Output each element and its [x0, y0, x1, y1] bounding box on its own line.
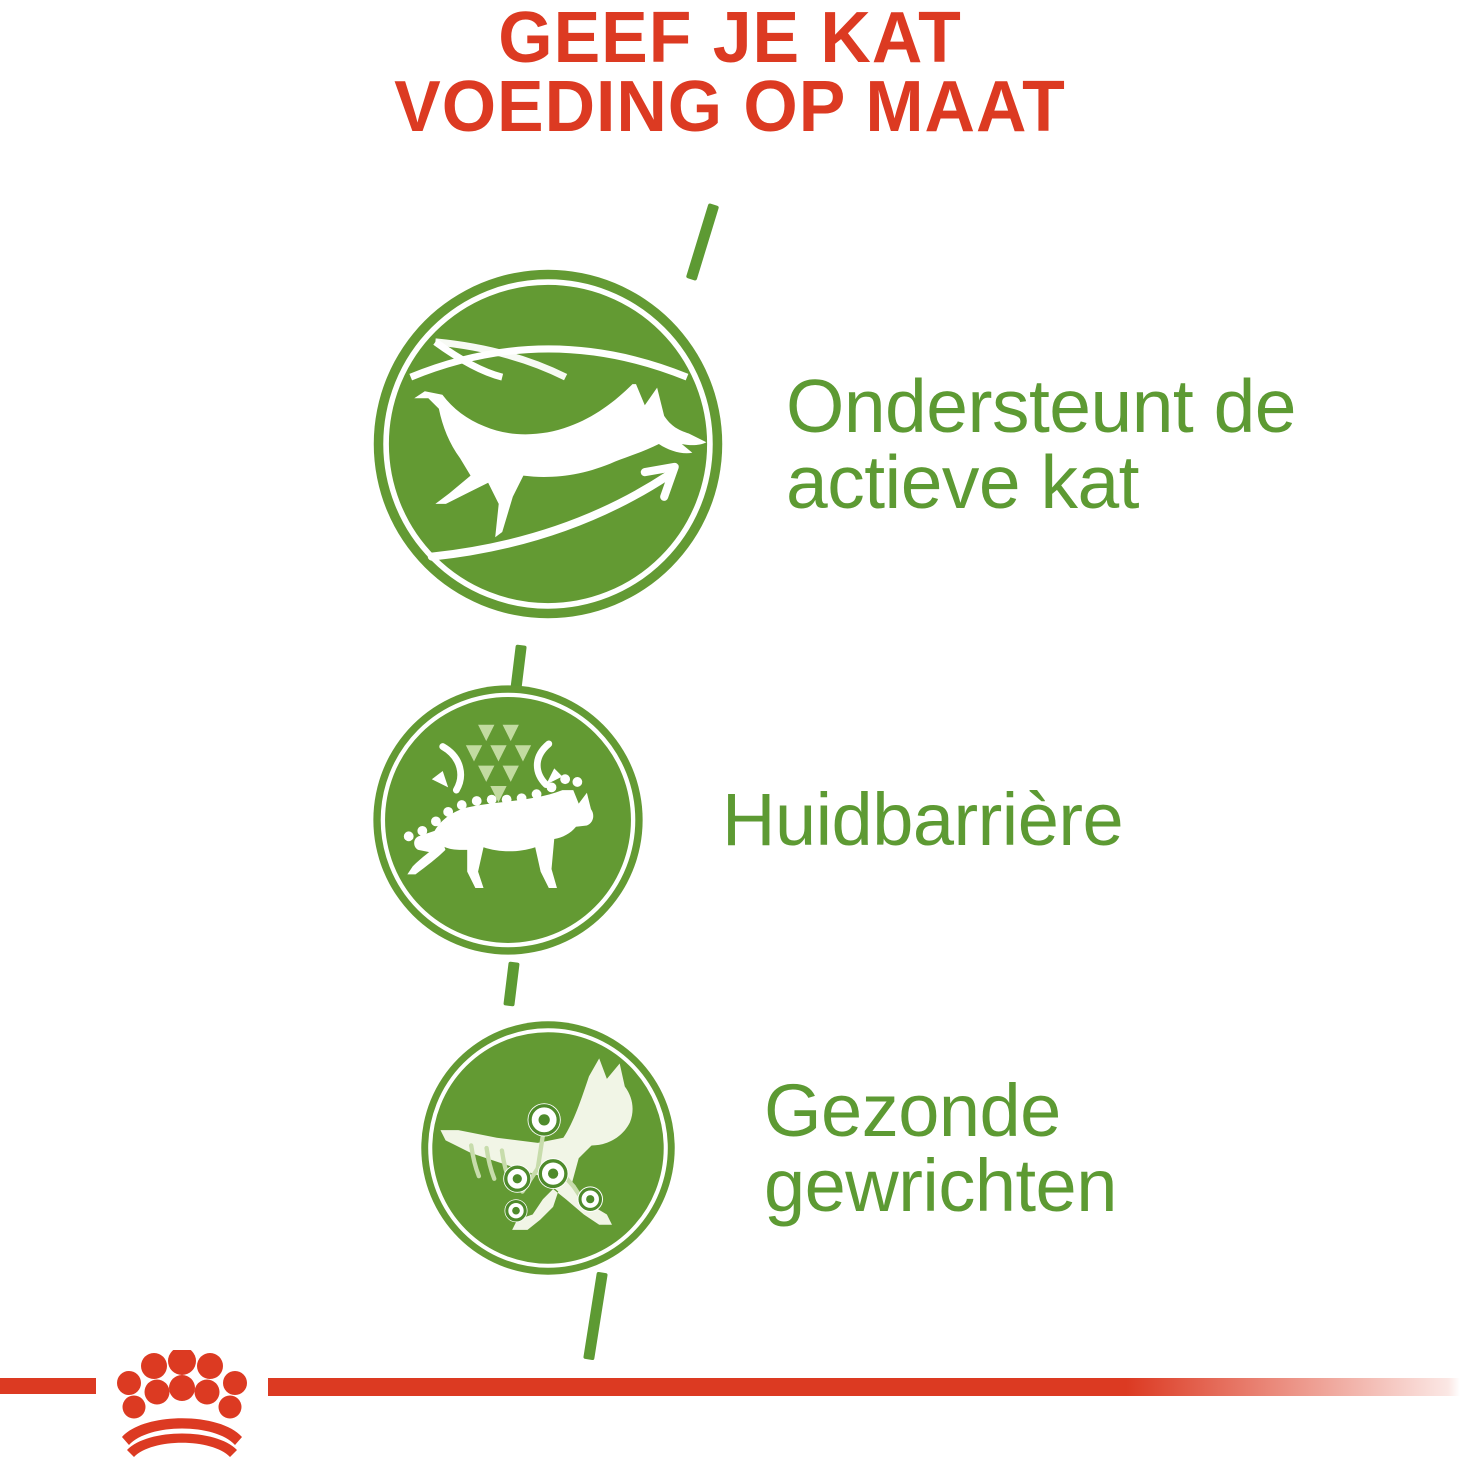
benefit-label-healthy-joints: Gezonde gewrichten	[764, 1073, 1117, 1224]
infographic-canvas: GEEF JE KAT VOEDING OP MAAT Ondersteunt …	[0, 0, 1460, 1460]
connector-dash-bottom	[583, 1272, 608, 1361]
healthy-joints-cat-icon	[420, 1020, 676, 1276]
title-line-1: GEEF JE KAT	[22, 4, 1438, 73]
title-line-2: VOEDING OP MAAT	[22, 73, 1438, 142]
connector-dash-2-3	[503, 961, 519, 1006]
benefit-label-active-cat: Ondersteunt de actieve kat	[786, 368, 1296, 521]
skin-barrier-cat-icon	[372, 684, 644, 956]
benefit-row-active-cat: Ondersteunt de actieve kat	[372, 268, 1296, 620]
benefit-row-healthy-joints: Gezonde gewrichten	[420, 1020, 1117, 1276]
benefit-label-skin-barrier: Huidbarrière	[722, 782, 1123, 857]
footer	[0, 1350, 1460, 1460]
leaping-cat-icon	[372, 268, 724, 620]
benefit-row-skin-barrier: Huidbarrière	[372, 684, 1123, 956]
footer-rule-right	[268, 1378, 1460, 1396]
royal-canin-crown-logo	[96, 1350, 268, 1458]
footer-rule-left	[0, 1378, 96, 1394]
page-title: GEEF JE KAT VOEDING OP MAAT	[0, 4, 1460, 142]
